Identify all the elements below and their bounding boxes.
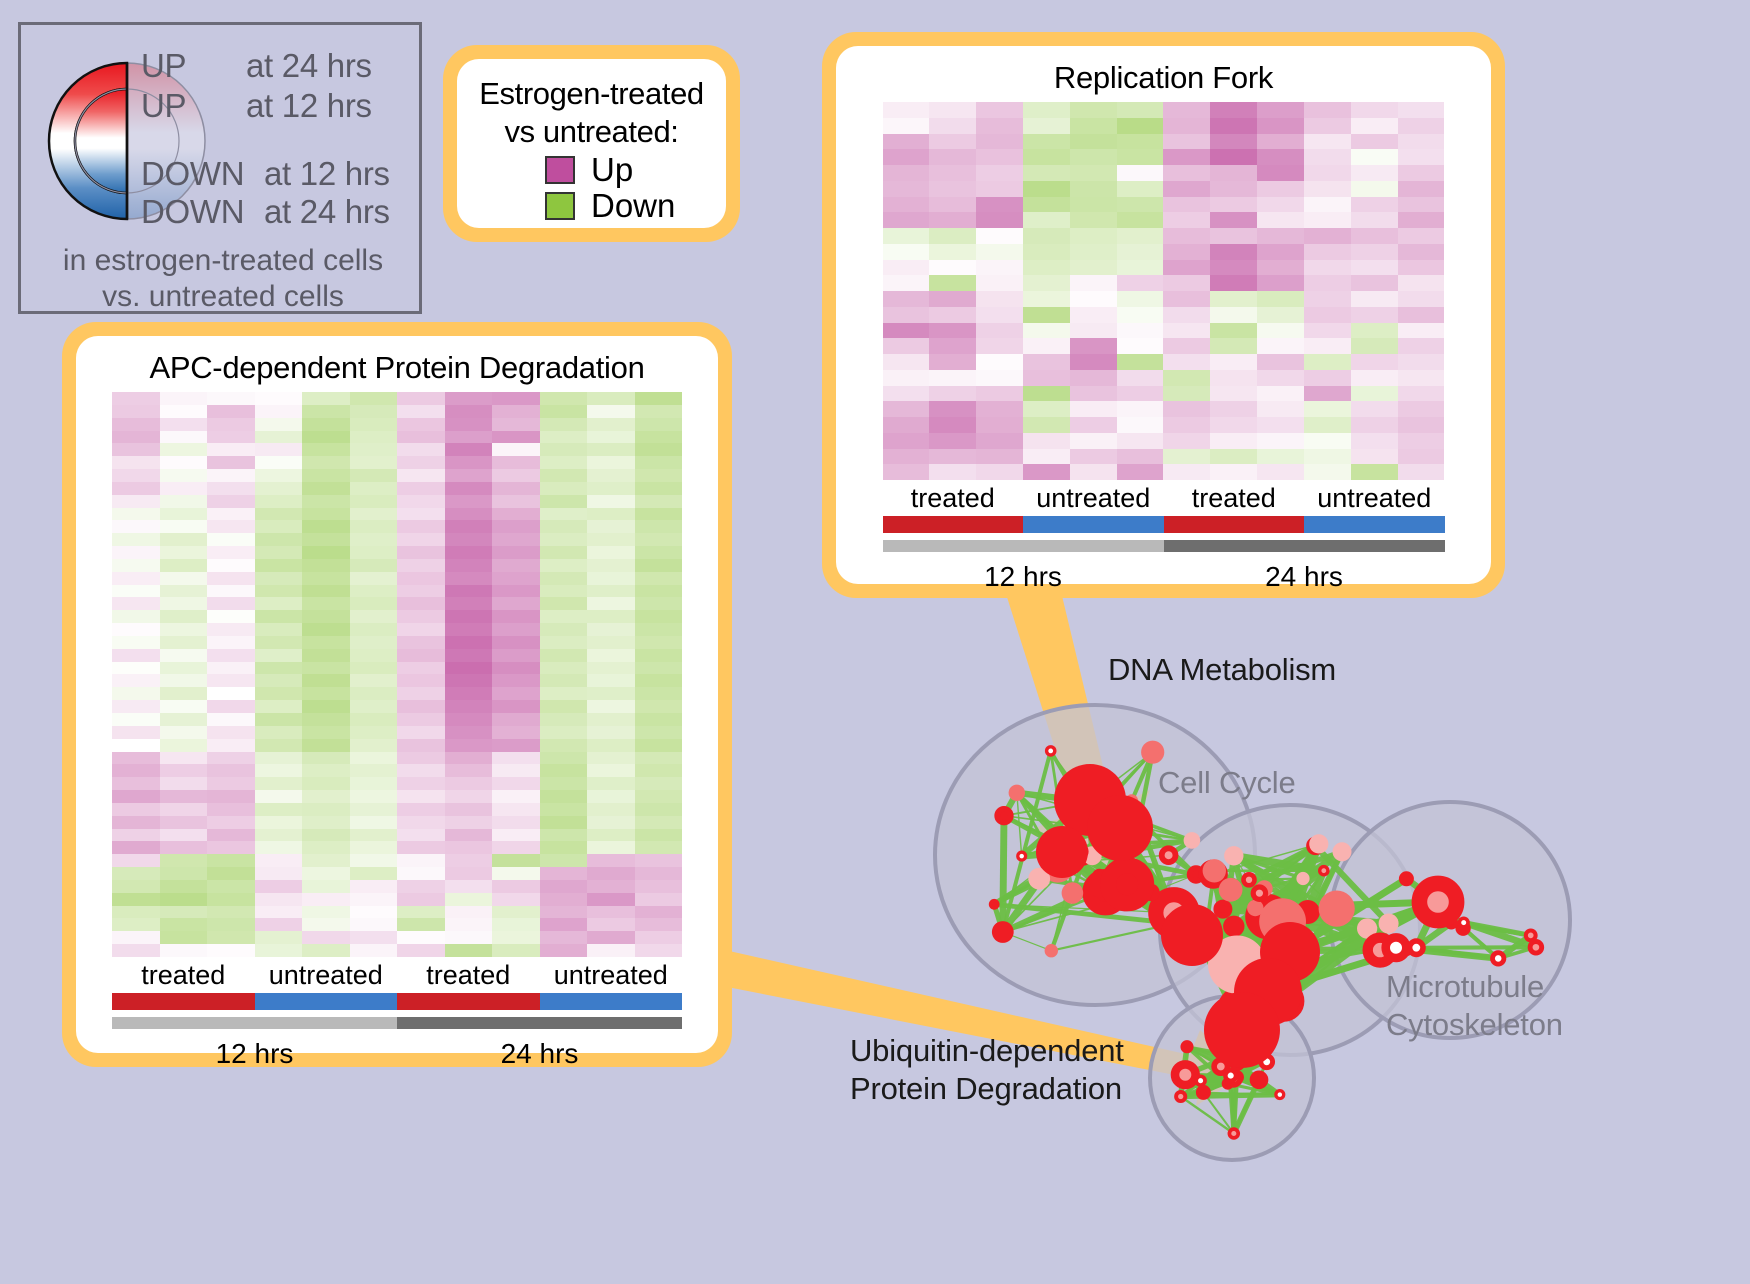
heatmap-cell (445, 546, 493, 559)
heatmap-cell (540, 854, 588, 867)
heatmap-cell (587, 649, 635, 662)
heatmap-cell (1023, 212, 1070, 228)
heatmap-cell (1023, 401, 1070, 417)
heatmap-cell (540, 777, 588, 790)
time-color-bar (112, 1017, 397, 1029)
heatmap-cell (350, 418, 398, 431)
heatmap-cell (207, 700, 255, 713)
heatmap-cell (587, 918, 635, 931)
heatmap-cell (1304, 307, 1351, 323)
heatmap-cell (397, 585, 445, 598)
heatmap-cell (1304, 228, 1351, 244)
heatmap-cell (1117, 260, 1164, 276)
heatmap-cell (1023, 260, 1070, 276)
network-node[interactable] (1401, 874, 1412, 885)
heatmap-cell (1163, 165, 1210, 181)
network-node[interactable] (1229, 1129, 1238, 1138)
heatmap-cell (445, 880, 493, 893)
heatmap-cell (160, 674, 208, 687)
ring-label-down-24: DOWN (141, 193, 244, 231)
network-node[interactable] (1009, 785, 1025, 801)
heatmap-cell (445, 790, 493, 803)
heatmap-cell (1210, 386, 1257, 402)
network-node[interactable] (1225, 1070, 1236, 1081)
heatmap-cell (1304, 102, 1351, 118)
heatmap-cell (929, 228, 976, 244)
pathway-network[interactable]: DNA Metabolism Cell Cycle MicrotubuleCyt… (790, 600, 1750, 1279)
heatmap-cell (1351, 181, 1398, 197)
heatmap-cell (587, 610, 635, 623)
network-node[interactable] (1161, 904, 1223, 966)
heatmap-cell (207, 405, 255, 418)
heatmap-cell (883, 102, 930, 118)
heatmap-cell (1210, 338, 1257, 354)
heatmap-cell (635, 559, 683, 572)
heatmap-cell (207, 906, 255, 919)
heatmap-cell (492, 726, 540, 739)
heatmap-cell (350, 456, 398, 469)
heatmap-cell (1351, 386, 1398, 402)
treatment-label: treated (1164, 480, 1305, 516)
heatmap-cell (350, 392, 398, 405)
heatmap-cell (492, 918, 540, 931)
network-node[interactable] (1184, 832, 1201, 849)
heatmap-cell (883, 212, 930, 228)
heatmap-cell (397, 559, 445, 572)
heatmap-cell (160, 495, 208, 508)
network-node[interactable] (1379, 914, 1399, 934)
heatmap-cell (207, 469, 255, 482)
heatmap-cell (883, 149, 930, 165)
heatmap-cell (397, 662, 445, 675)
network-node[interactable] (1087, 795, 1153, 861)
heatmap-cell (976, 181, 1023, 197)
heatmap-cell (1351, 354, 1398, 370)
heatmap-cell (112, 726, 160, 739)
heatmap-cell (492, 533, 540, 546)
heatmap-cell (635, 854, 683, 867)
heatmap-cell (397, 944, 445, 957)
heatmap-cell (540, 880, 588, 893)
heatmap-cell (112, 520, 160, 533)
network-node[interactable] (1047, 747, 1055, 755)
heatmap-cell (160, 443, 208, 456)
heatmap-cell (160, 392, 208, 405)
network-node[interactable] (1419, 883, 1456, 920)
heatmap-cell (1023, 118, 1070, 134)
heatmap-cell (1023, 134, 1070, 150)
heatmap-cell (160, 636, 208, 649)
network-node[interactable] (1252, 1073, 1265, 1086)
heatmap-cell (302, 752, 350, 765)
heatmap-cell (1070, 386, 1117, 402)
heatmap-cell (1163, 464, 1210, 480)
heatmap-cell (207, 726, 255, 739)
heatmap-cell (255, 520, 303, 533)
heatmap-cell (255, 610, 303, 623)
heatmap-cell (302, 392, 350, 405)
heatmap-cell (976, 118, 1023, 134)
heatmap-cell (445, 764, 493, 777)
heatmap-cell (1398, 275, 1445, 291)
heatmap-cell (160, 918, 208, 931)
heatmap-cell (1210, 370, 1257, 386)
heatmap-cell (302, 469, 350, 482)
heatmap-cell (160, 829, 208, 842)
heatmap-cell (883, 260, 930, 276)
heatmap-cell (1351, 165, 1398, 181)
heatmap-cell (397, 700, 445, 713)
network-node[interactable] (1176, 1092, 1185, 1101)
apc-panel: APC-dependent Protein Degradation treate… (62, 322, 732, 1067)
network-node[interactable] (997, 809, 1011, 823)
network-node[interactable] (1216, 902, 1229, 915)
treatment-color-bar (540, 993, 683, 1010)
heatmap-cell (302, 944, 350, 957)
heatmap-cell (255, 482, 303, 495)
network-node[interactable] (1319, 891, 1355, 927)
heatmap-cell (160, 405, 208, 418)
heatmap-cell (302, 495, 350, 508)
heatmap-cell (397, 803, 445, 816)
heatmap-cell (255, 687, 303, 700)
heatmap-cell (112, 559, 160, 572)
heatmap-cell (397, 418, 445, 431)
apc-column-annotation: treateduntreatedtreateduntreated 12 hrs2… (112, 957, 682, 1074)
heatmap-cell (1163, 370, 1210, 386)
heatmap-cell (1257, 102, 1304, 118)
heatmap-cell (976, 212, 1023, 228)
heatmap-cell (445, 777, 493, 790)
heatmap-cell (350, 854, 398, 867)
heatmap-cell (160, 431, 208, 444)
heatmap-cell (1163, 118, 1210, 134)
heatmap-cell (255, 469, 303, 482)
heatmap-cell (492, 559, 540, 572)
heatmap-cell (929, 244, 976, 260)
heatmap-cell (397, 623, 445, 636)
heatmap-cell (1257, 244, 1304, 260)
heatmap-cell (207, 520, 255, 533)
heatmap-cell (445, 944, 493, 957)
network-node[interactable] (1276, 1091, 1284, 1099)
network-node[interactable] (1530, 942, 1542, 954)
heatmap-cell (492, 431, 540, 444)
heatmap-cell (1117, 449, 1164, 465)
heatmap-cell (976, 165, 1023, 181)
network-node[interactable] (1333, 842, 1352, 861)
heatmap-cell (635, 829, 683, 842)
heatmap-cell (492, 443, 540, 456)
heatmap-cell (540, 392, 588, 405)
heatmap-cell (587, 418, 635, 431)
heatmap-cell (112, 495, 160, 508)
network-node[interactable] (1244, 874, 1255, 885)
replication-fork-heatmap[interactable] (883, 102, 1445, 480)
expression-legend-title-line2: vs untreated: (467, 113, 716, 151)
heatmap-cell (492, 944, 540, 957)
heatmap-cell (1070, 197, 1117, 213)
heatmap-cell (1398, 244, 1445, 260)
heatmap-cell (160, 520, 208, 533)
heatmap-cell (1163, 134, 1210, 150)
heatmap-cell (929, 354, 976, 370)
network-node[interactable] (1108, 865, 1146, 903)
apc-heatmap[interactable] (112, 392, 682, 957)
heatmap-cell (587, 713, 635, 726)
heatmap-cell (160, 816, 208, 829)
heatmap-cell (1023, 181, 1070, 197)
heatmap-cell (160, 854, 208, 867)
heatmap-cell (445, 533, 493, 546)
heatmap-cell (1070, 275, 1117, 291)
treatment-label: treated (112, 957, 255, 993)
heatmap-cell (207, 893, 255, 906)
heatmap-cell (540, 456, 588, 469)
heatmap-cell (397, 790, 445, 803)
network-node[interactable] (1045, 944, 1058, 957)
heatmap-cell (1257, 386, 1304, 402)
heatmap-cell (350, 880, 398, 893)
heatmap-cell (587, 700, 635, 713)
heatmap-cell (1163, 244, 1210, 260)
heatmap-cell (976, 338, 1023, 354)
heatmap-cell (255, 829, 303, 842)
network-node[interactable] (1296, 872, 1309, 885)
heatmap-cell (350, 867, 398, 880)
network-node[interactable] (1459, 918, 1468, 927)
heatmap-cell (883, 275, 930, 291)
heatmap-cell (587, 636, 635, 649)
network-node[interactable] (1204, 992, 1280, 1068)
heatmap-cell (160, 533, 208, 546)
heatmap-cell (302, 777, 350, 790)
heatmap-cell (883, 323, 930, 339)
heatmap-cell (350, 610, 398, 623)
heatmap-cell (1163, 197, 1210, 213)
network-node[interactable] (1410, 941, 1423, 954)
heatmap-cell (1304, 464, 1351, 480)
network-node[interactable] (1062, 882, 1084, 904)
heatmap-cell (255, 572, 303, 585)
network-node[interactable] (1320, 867, 1328, 875)
heatmap-cell (1023, 291, 1070, 307)
heatmap-cell (1117, 165, 1164, 181)
network-node[interactable] (1309, 834, 1328, 853)
heatmap-cell (112, 572, 160, 585)
heatmap-cell (255, 495, 303, 508)
heatmap-cell (207, 597, 255, 610)
heatmap-cell (635, 418, 683, 431)
heatmap-cell (255, 392, 303, 405)
heatmap-cell (255, 623, 303, 636)
heatmap-cell (1163, 338, 1210, 354)
heatmap-cell (1398, 464, 1445, 480)
treatment-label: treated (397, 957, 540, 993)
heatmap-cell (492, 700, 540, 713)
network-node[interactable] (1386, 937, 1407, 958)
heatmap-cell (1210, 275, 1257, 291)
heatmap-cell (302, 533, 350, 546)
heatmap-cell (540, 662, 588, 675)
heatmap-cell (445, 687, 493, 700)
heatmap-cell (587, 546, 635, 559)
network-node[interactable] (1036, 826, 1088, 878)
network-node[interactable] (1493, 953, 1504, 964)
heatmap-cell (929, 212, 976, 228)
heatmap-cell (302, 585, 350, 598)
heatmap-cell (207, 854, 255, 867)
heatmap-cell (635, 597, 683, 610)
heatmap-cell (635, 520, 683, 533)
heatmap-cell (492, 816, 540, 829)
heatmap-cell (255, 713, 303, 726)
heatmap-cell (445, 649, 493, 662)
heatmap-cell (976, 417, 1023, 433)
heatmap-cell (883, 338, 930, 354)
heatmap-cell (255, 867, 303, 880)
heatmap-cell (397, 456, 445, 469)
heatmap-cell (112, 752, 160, 765)
heatmap-cell (160, 469, 208, 482)
heatmap-cell (255, 405, 303, 418)
heatmap-cell (112, 931, 160, 944)
heatmap-cell (1304, 354, 1351, 370)
heatmap-cell (445, 585, 493, 598)
heatmap-cell (255, 431, 303, 444)
heatmap-cell (1257, 370, 1304, 386)
heatmap-cell (1351, 401, 1398, 417)
heatmap-cell (883, 464, 930, 480)
heatmap-cell (397, 572, 445, 585)
heatmap-cell (445, 443, 493, 456)
heatmap-cell (976, 386, 1023, 402)
heatmap-cell (160, 726, 208, 739)
heatmap-cell (207, 713, 255, 726)
heatmap-cell (1070, 181, 1117, 197)
heatmap-cell (587, 623, 635, 636)
heatmap-cell (255, 880, 303, 893)
heatmap-cell (540, 931, 588, 944)
heatmap-cell (160, 418, 208, 431)
heatmap-cell (112, 739, 160, 752)
heatmap-cell (445, 918, 493, 931)
heatmap-cell (302, 841, 350, 854)
heatmap-cell (1351, 307, 1398, 323)
heatmap-cell (397, 893, 445, 906)
heatmap-cell (929, 449, 976, 465)
network-node[interactable] (1198, 1087, 1209, 1098)
heatmap-cell (1398, 323, 1445, 339)
heatmap-cell (587, 469, 635, 482)
heatmap-cell (302, 482, 350, 495)
heatmap-cell (540, 752, 588, 765)
heatmap-cell (350, 559, 398, 572)
network-node[interactable] (1223, 916, 1244, 937)
heatmap-cell (1163, 417, 1210, 433)
heatmap-cell (929, 102, 976, 118)
heatmap-cell (1117, 401, 1164, 417)
network-node[interactable] (992, 921, 1014, 943)
heatmap-cell (445, 559, 493, 572)
network-node[interactable] (1224, 846, 1243, 865)
heatmap-cell (492, 662, 540, 675)
heatmap-cell (350, 777, 398, 790)
heatmap-cell (255, 944, 303, 957)
network-node[interactable] (1018, 852, 1026, 860)
heatmap-cell (350, 944, 398, 957)
heatmap-cell (112, 918, 160, 931)
heatmap-cell (540, 906, 588, 919)
heatmap-cell (1398, 370, 1445, 386)
network-node[interactable] (990, 901, 998, 909)
heatmap-cell (397, 906, 445, 919)
heatmap-cell (1070, 401, 1117, 417)
heatmap-cell (112, 649, 160, 662)
heatmap-cell (540, 533, 588, 546)
heatmap-cell (350, 520, 398, 533)
network-node[interactable] (1219, 878, 1243, 902)
network-node[interactable] (1162, 848, 1176, 862)
heatmap-cell (929, 291, 976, 307)
heatmap-cell (1210, 228, 1257, 244)
heatmap-cell (1257, 228, 1304, 244)
heatmap-cell (1023, 149, 1070, 165)
heatmap-cell (207, 674, 255, 687)
heatmap-cell (492, 405, 540, 418)
heatmap-cell (635, 456, 683, 469)
heatmap-cell (1210, 464, 1257, 480)
heatmap-cell (1023, 244, 1070, 260)
heatmap-cell (1163, 433, 1210, 449)
heatmap-cell (350, 841, 398, 854)
heatmap-cell (540, 431, 588, 444)
heatmap-cell (1163, 449, 1210, 465)
heatmap-cell (1023, 102, 1070, 118)
network-node[interactable] (1253, 887, 1265, 899)
heatmap-cell (1304, 260, 1351, 276)
heatmap-cell (540, 418, 588, 431)
time-label: 24 hrs (1164, 557, 1445, 597)
heatmap-cell (207, 649, 255, 662)
heatmap-cell (883, 134, 930, 150)
heatmap-cell (302, 893, 350, 906)
heatmap-cell (397, 508, 445, 521)
network-node[interactable] (1141, 741, 1164, 764)
network-node[interactable] (1175, 1064, 1196, 1085)
heatmap-cell (445, 674, 493, 687)
treatment-label: untreated (1023, 480, 1164, 516)
heatmap-cell (207, 777, 255, 790)
heatmap-cell (1117, 323, 1164, 339)
heatmap-cell (540, 469, 588, 482)
heatmap-cell (350, 764, 398, 777)
network-node[interactable] (1196, 1076, 1205, 1085)
heatmap-cell (1023, 464, 1070, 480)
heatmap-cell (540, 867, 588, 880)
heatmap-cell (1351, 449, 1398, 465)
network-node[interactable] (1182, 1042, 1191, 1051)
heatmap-cell (976, 307, 1023, 323)
heatmap-cell (635, 739, 683, 752)
heatmap-cell (112, 777, 160, 790)
network-node[interactable] (1203, 859, 1226, 882)
heatmap-cell (112, 469, 160, 482)
network-node[interactable] (1526, 931, 1536, 941)
heatmap-cell (112, 944, 160, 957)
heatmap-cell (1070, 228, 1117, 244)
heatmap-cell (445, 636, 493, 649)
